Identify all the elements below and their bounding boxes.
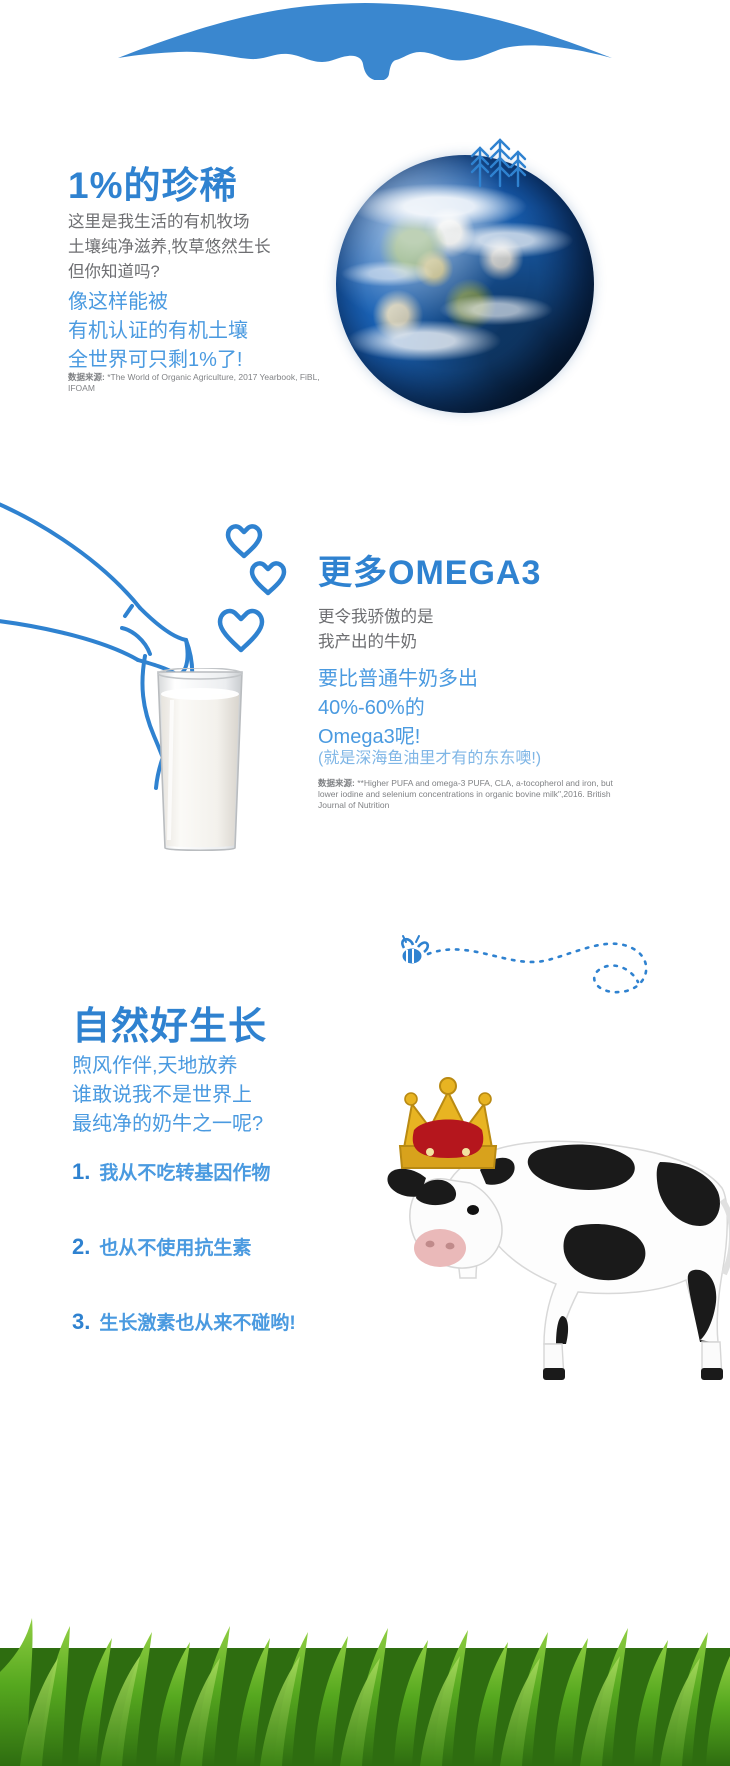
section2-source-label: 数据来源: <box>318 778 355 788</box>
section1-source-note: 数据来源: *The World of Organic Agriculture,… <box>68 372 328 394</box>
section1-highlight-text: 像这样能被 有机认证的有机土壤 全世界可只剩1%了! <box>68 288 248 375</box>
section1-source-label: 数据来源: <box>68 372 105 382</box>
crown-icon <box>400 1078 496 1168</box>
section2-source-text: **Higher PUFA and omega-3 PUFA, CLA, a-t… <box>318 778 613 810</box>
section1-title: 1%的珍稀 <box>68 155 237 209</box>
section3-blue-line-3: 最纯净的奶牛之一呢? <box>72 1110 263 1139</box>
section2-title: 更多OMEGA3 <box>318 545 541 594</box>
list-item-label: 生长激素也从来不碰哟! <box>99 1308 295 1335</box>
section3-blue-line-1: 煦风作伴,天地放养 <box>72 1052 263 1081</box>
section3-title: 自然好生长 <box>72 995 267 1050</box>
infographic-page: 1%的珍稀 这里是我生活的有机牧场 土壤纯净滋养,牧草悠然生长 但你知道吗? 像… <box>0 0 730 1766</box>
section2-highlight-text: 要比普通牛奶多出 40%-60%的 Omega3呢! <box>318 665 478 752</box>
list-item: 1. 我从不吃转基因作物 <box>72 1158 352 1185</box>
list-item: 2. 也从不使用抗生素 <box>72 1233 352 1260</box>
section1-grey-line-1: 这里是我生活的有机牧场 <box>68 210 271 235</box>
list-item: 3. 生长激素也从来不碰哟! <box>72 1308 352 1335</box>
section2-grey-line-2: 我产出的牛奶 <box>318 630 434 655</box>
glass-of-milk-icon <box>150 668 250 853</box>
list-item-label: 也从不使用抗生素 <box>99 1233 251 1260</box>
section2-grey-text: 更令我骄傲的是 我产出的牛奶 <box>318 605 434 655</box>
section2-grey-line-1: 更令我骄傲的是 <box>318 605 434 630</box>
section2-paren-line: (就是深海鱼油里才有的东东噢!) <box>318 744 541 768</box>
bee-flight-path-icon <box>380 930 670 1020</box>
pine-trees-icon <box>454 130 534 190</box>
section3-blue-line-2: 谁敢说我不是世界上 <box>72 1081 263 1110</box>
section1-blue-line-1: 像这样能被 <box>68 288 248 317</box>
section2-blue-line-2: 40%-60%的 <box>318 694 478 723</box>
heart-outline-icons <box>208 520 298 670</box>
cow-with-crown-icon <box>330 1030 730 1385</box>
bee-icon <box>402 936 427 964</box>
section3-claims-list: 1. 我从不吃转基因作物 2. 也从不使用抗生素 3. 生长激素也从来不碰哟! <box>72 1158 352 1383</box>
milk-drip-arc-icon <box>0 0 730 80</box>
grass-field-icon <box>0 1466 730 1766</box>
section2-blue-line-1: 要比普通牛奶多出 <box>318 665 478 694</box>
section1-grey-line-3: 但你知道吗? <box>68 260 271 285</box>
earth-globe <box>336 130 618 412</box>
section2-source-note: 数据来源: **Higher PUFA and omega-3 PUFA, CL… <box>318 778 618 811</box>
list-item-number: 3. <box>72 1309 90 1335</box>
section1-grey-text: 这里是我生活的有机牧场 土壤纯净滋养,牧草悠然生长 但你知道吗? <box>68 210 271 285</box>
section1-blue-line-3: 全世界可只剩1%了! <box>68 346 248 375</box>
earth-clouds-overlay <box>336 155 594 413</box>
section1-blue-line-2: 有机认证的有机土壤 <box>68 317 248 346</box>
list-item-label: 我从不吃转基因作物 <box>99 1158 270 1185</box>
list-item-number: 2. <box>72 1234 90 1260</box>
section3-highlight-text: 煦风作伴,天地放养 谁敢说我不是世界上 最纯净的奶牛之一呢? <box>72 1052 263 1139</box>
list-item-number: 1. <box>72 1159 90 1185</box>
section1-grey-line-2: 土壤纯净滋养,牧草悠然生长 <box>68 235 271 260</box>
section1-source-text: *The World of Organic Agriculture, 2017 … <box>68 372 320 393</box>
